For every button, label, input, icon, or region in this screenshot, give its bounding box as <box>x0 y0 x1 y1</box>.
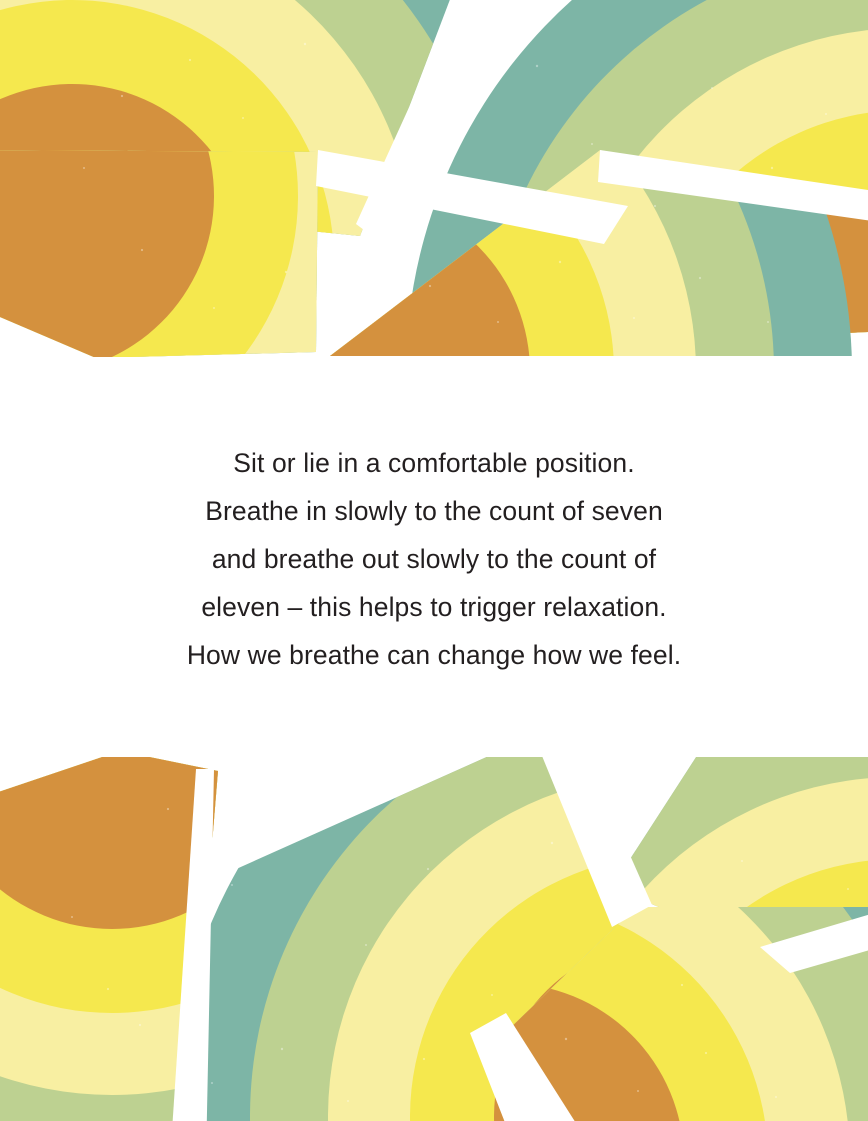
quote-text-block: Sit or lie in a comfortable position. Br… <box>0 360 868 757</box>
quote-line: Breathe in slowly to the count of seven <box>187 487 681 535</box>
bottom-artwork <box>0 757 868 1121</box>
quote-line: How we breathe can change how we feel. <box>187 631 681 679</box>
top-artwork <box>0 0 868 360</box>
quote-line: Sit or lie in a comfortable position. <box>187 439 681 487</box>
quote-line: eleven – this helps to trigger relaxatio… <box>187 583 681 631</box>
book-page: Sit or lie in a comfortable position. Br… <box>0 0 868 1121</box>
quote-lines: Sit or lie in a comfortable position. Br… <box>187 439 681 679</box>
quote-line: and breathe out slowly to the count of <box>187 535 681 583</box>
